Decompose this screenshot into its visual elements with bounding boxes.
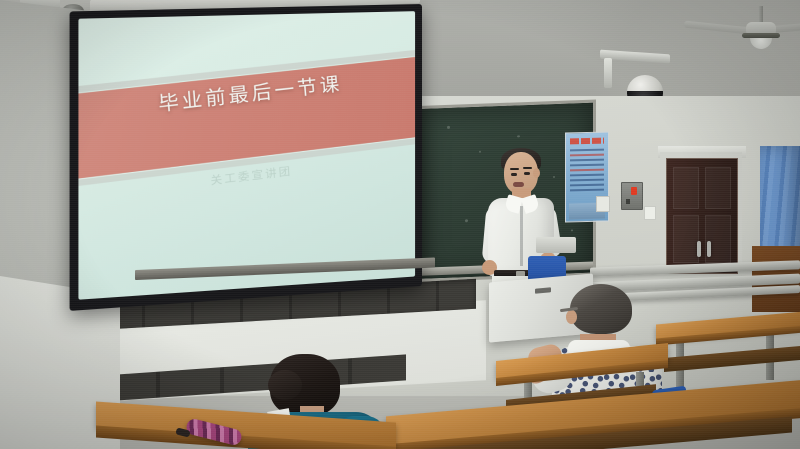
- door-handle-left[interactable]: [697, 241, 701, 257]
- wall-plate-small: [644, 206, 656, 220]
- speaker-shirt-placket: [520, 206, 523, 266]
- classroom-photo: 毕业前最后一节课 关工委宣讲团: [0, 0, 800, 449]
- wall-socket-plate: [596, 196, 610, 212]
- side-table: [536, 237, 576, 253]
- speaker-mouth: [513, 182, 524, 187]
- switch-icon[interactable]: [626, 199, 630, 204]
- slide-surface: 毕业前最后一节课 关工委宣讲团: [78, 11, 415, 300]
- speaker-ear: [533, 168, 540, 178]
- fan-blade: [772, 22, 800, 33]
- man-hair: [570, 284, 632, 334]
- man-ear: [566, 310, 577, 324]
- classroom-door[interactable]: [666, 158, 738, 274]
- fan-light: [750, 38, 772, 49]
- door-handle-right[interactable]: [707, 241, 711, 257]
- poster-heading: [570, 138, 604, 145]
- ceiling-fan-icon: [724, 6, 798, 54]
- electrical-control-box: [621, 182, 643, 210]
- poster-body-text: [570, 149, 604, 202]
- camera-bracket-arm: [604, 58, 612, 88]
- indicator-led-icon: [631, 187, 637, 195]
- woman-hair-bun: [268, 370, 302, 400]
